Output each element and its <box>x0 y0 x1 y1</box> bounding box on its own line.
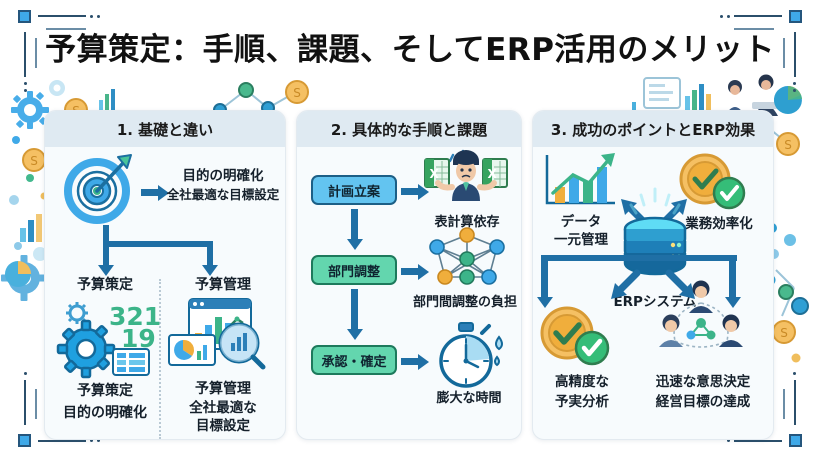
panel-3-benefit-4-line-1: 迅速な意思決定 <box>637 375 769 391</box>
dashboard-magnifier-icon <box>167 297 275 377</box>
target-arrow-icon <box>61 153 137 223</box>
stopwatch-icon <box>431 321 511 391</box>
gear-numbers-icon: 321 19 <box>59 299 155 375</box>
coin-check-icon-bottom <box>537 305 613 369</box>
svg-text:S: S <box>30 154 38 168</box>
panel-3-benefit-3-line-2: 予実分析 <box>533 395 631 411</box>
panel-1-column-1-heading: 予算策定 <box>55 277 155 294</box>
panel-1-header: 1. 基礎と違い <box>45 111 285 147</box>
panel-1-column-2-heading: 予算管理 <box>171 277 275 294</box>
panel-3-benefit-1-line-2: 一元管理 <box>535 233 627 249</box>
svg-text:S: S <box>780 326 788 340</box>
growth-chart-icon <box>541 151 621 213</box>
arrow-erp-to-accuracy <box>609 269 643 303</box>
team-people-icon <box>649 277 753 369</box>
panel-3-body: データ 一元管理 業務効率化 <box>533 147 773 440</box>
flow-step-1[interactable]: 計画立案 <box>311 175 397 205</box>
panel-3-benefit-1-line-1: データ <box>535 215 627 231</box>
panel-1-note-line-1: 目的の明確化 <box>163 169 283 185</box>
panel-1-column-1-caption-1: 予算策定 <box>53 383 157 400</box>
panel-2-body: 計画立案 X <box>297 147 521 440</box>
panel-1-note-line-2: 全社最適な目標設定 <box>157 188 286 203</box>
panel-2-issue-3: 膨大な時間 <box>417 391 521 406</box>
panel-2-header: 2. 具体的な手順と課題 <box>297 111 521 147</box>
svg-text:S: S <box>293 86 301 100</box>
panel-3-header: 3. 成功のポイントとERP効果 <box>533 111 773 147</box>
panel-1-column-2-caption-1: 予算管理 <box>167 381 279 398</box>
panel-1-column-2-caption-3: 目標設定 <box>167 419 279 435</box>
stressed-person-spreadsheet-icon: X X <box>423 149 511 211</box>
panel-success-and-erp-effects: 3. 成功のポイントとERP効果 データ 一元管理 <box>532 110 774 440</box>
panel-basics-and-differences: 1. 基礎と違い 目的の明確化 全社最適な目標設定 <box>44 110 286 440</box>
flow-step-2[interactable]: 部門調整 <box>311 255 397 285</box>
network-nodes-icon <box>427 229 507 291</box>
panel-steps-and-issues: 2. 具体的な手順と課題 計画立案 X <box>296 110 522 440</box>
flow-step-3[interactable]: 承認・確定 <box>311 345 397 375</box>
svg-text:S: S <box>784 138 792 152</box>
page-title: 予算策定：手順、課題、そしてERP活用のメリット <box>0 24 820 69</box>
infographic-canvas: S S <box>0 0 820 457</box>
panel-1-column-1-caption-2: 目的の明確化 <box>49 405 161 422</box>
panel-3-benefit-4-line-2: 経営目標の達成 <box>637 395 769 411</box>
panel-2-issue-2: 部門間調整の負担 <box>401 295 522 310</box>
panel-1-column-2-caption-2: 全社最適な <box>167 401 279 417</box>
panel-1-body: 目的の明確化 全社最適な目標設定 予算策定 <box>45 147 285 440</box>
panel-3-benefit-3-line-1: 高精度な <box>533 375 631 391</box>
